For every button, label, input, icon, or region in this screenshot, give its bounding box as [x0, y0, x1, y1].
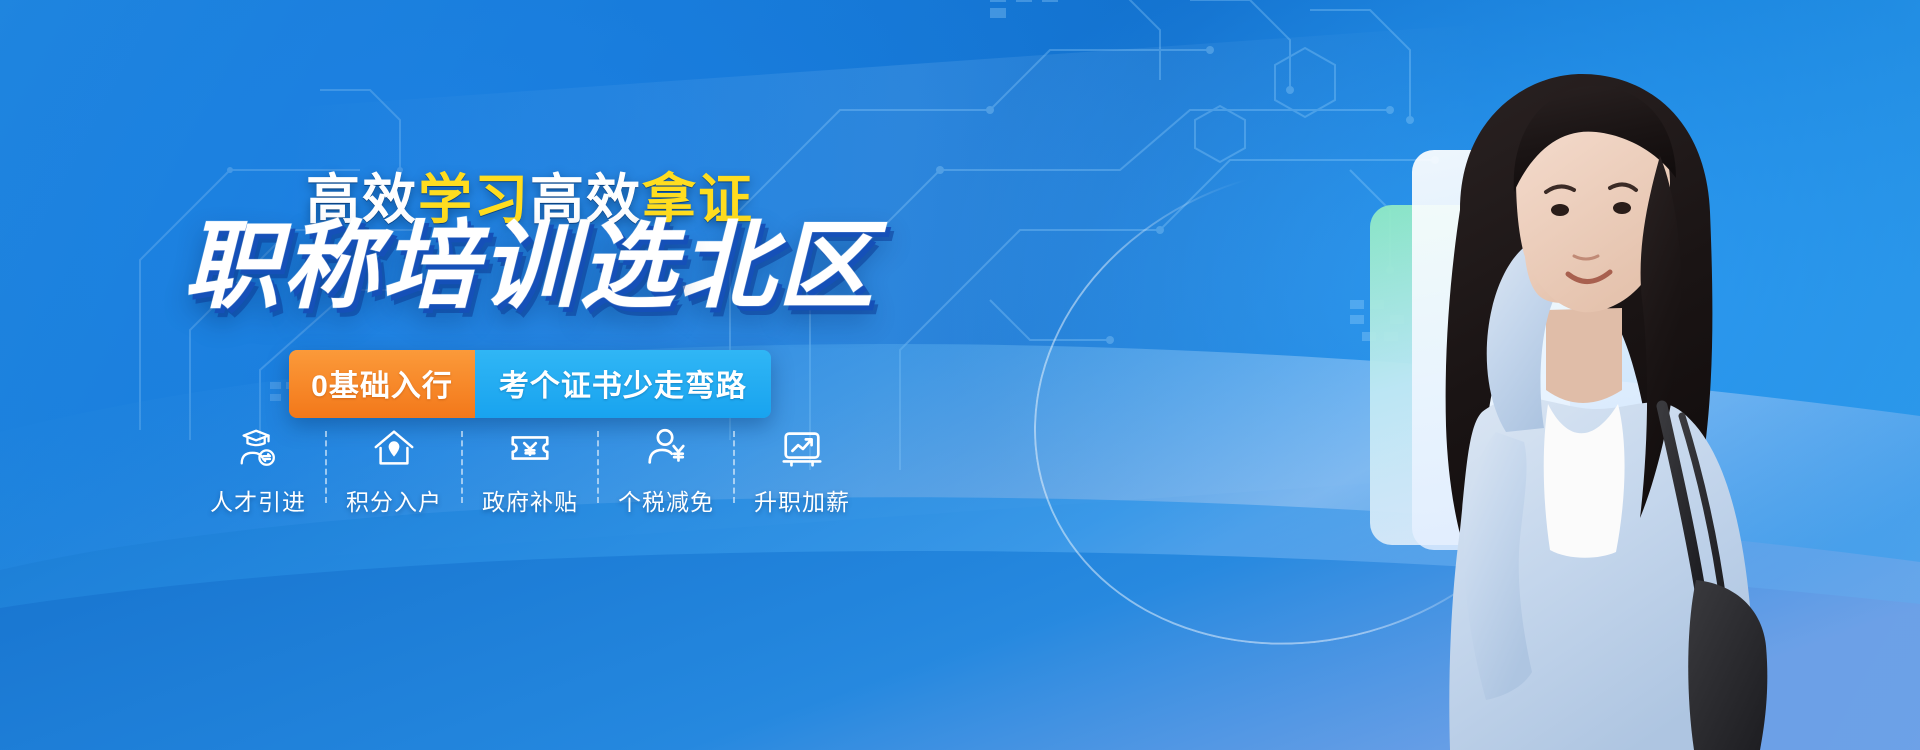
- instructor-photo: [1310, 60, 1870, 750]
- graduate-person-icon: [235, 425, 281, 471]
- headline-before: 职称培训: [184, 213, 580, 320]
- feature-item-talent-introduction[interactable]: 人才引进: [191, 425, 325, 517]
- feature-label: 人才引进: [210, 483, 306, 517]
- tagline-badge: 0基础入行 考个证书少走弯路: [0, 350, 1060, 418]
- headline-accent: 选: [580, 215, 679, 319]
- feature-item-tax-reduction[interactable]: 个税减免: [599, 425, 733, 517]
- ticket-yuan-icon: [507, 425, 553, 471]
- copy-block: 高效学习高效拿证 职称培训选北区 0基础入行 考个证书少走弯路: [0, 0, 1060, 750]
- tagline-badge-inner: 0基础入行 考个证书少走弯路: [289, 350, 771, 418]
- feature-item-promotion-raise[interactable]: 升职加薪: [735, 425, 869, 517]
- headline: 职称培训选北区: [0, 215, 1060, 319]
- white-card-shape: [1412, 150, 1642, 550]
- badge-right-label: 考个证书少走弯路: [475, 350, 771, 418]
- feature-label: 升职加薪: [754, 483, 850, 517]
- promo-banner: 高效学习高效拿证 职称培训选北区 0基础入行 考个证书少走弯路: [0, 0, 1920, 750]
- feature-list: 人才引进 积分入户: [0, 425, 1060, 517]
- house-pin-icon: [371, 425, 417, 471]
- feature-label: 积分入户: [346, 483, 442, 517]
- feature-item-government-subsidy[interactable]: 政府补贴: [463, 425, 597, 517]
- green-card-shape: [1370, 205, 1570, 545]
- headline-after: 北区: [679, 213, 877, 320]
- feature-label: 个税减免: [618, 483, 714, 517]
- feature-label: 政府补贴: [482, 483, 578, 517]
- hero-photo-group: [1060, 0, 1920, 750]
- feature-item-points-residency[interactable]: 积分入户: [327, 425, 461, 517]
- chart-board-icon: [779, 425, 825, 471]
- person-yuan-icon: [643, 425, 689, 471]
- badge-left-label: 0基础入行: [289, 350, 475, 418]
- orbit-swoosh-line: [971, 95, 1649, 715]
